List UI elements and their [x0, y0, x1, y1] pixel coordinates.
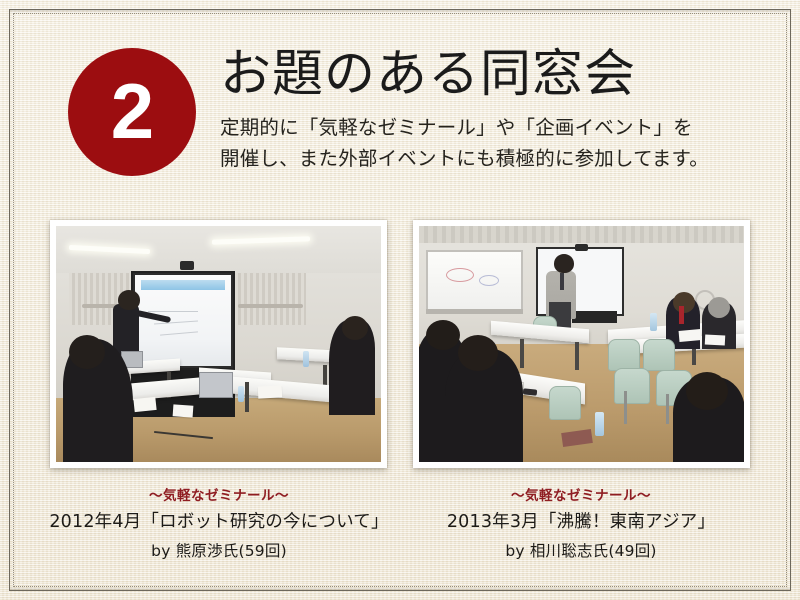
caption-byline: by 相川聡志氏(49回): [406, 539, 756, 563]
page-title: お題のある同窓会: [220, 46, 780, 103]
section-number-label: 2: [111, 72, 153, 150]
page-subtitle: 定期的に「気軽なゼミナール」や「企画イベント」を 開催し、また外部イベントにも積…: [220, 113, 780, 175]
photo-card-lecture: [413, 220, 750, 468]
caption-row: 〜気軽なゼミナール〜 2012年4月「ロボット研究の今について」 by 熊原渉氏…: [0, 486, 800, 576]
caption-title: 2013年3月「沸騰！東南アジア」: [406, 509, 756, 536]
caption-kicker: 〜気軽なゼミナール〜: [406, 486, 756, 506]
header-text-group: お題のある同窓会 定期的に「気軽なゼミナール」や「企画イベント」を 開催し、また…: [220, 46, 780, 175]
whiteboard: [426, 250, 524, 311]
caption-title: 2012年4月「ロボット研究の今について」: [44, 509, 394, 536]
meeting-room-lecture-photo: [419, 226, 744, 462]
photo-row: [0, 220, 800, 480]
seminar-room-presentation-photo: [56, 226, 381, 462]
section-number-badge: 2: [68, 48, 196, 176]
caption-seminar-2013: 〜気軽なゼミナール〜 2013年3月「沸騰！東南アジア」 by 相川聡志氏(49…: [406, 486, 756, 563]
frame-bottom-shade: [10, 587, 790, 590]
slide-header: 2 お題のある同窓会 定期的に「気軽なゼミナール」や「企画イベント」を 開催し、…: [0, 0, 800, 205]
caption-kicker: 〜気軽なゼミナール〜: [44, 486, 394, 506]
page-subtitle-line-1: 定期的に「気軽なゼミナール」や「企画イベント」を: [220, 113, 780, 144]
projection-screen: [131, 271, 235, 370]
caption-seminar-2012: 〜気軽なゼミナール〜 2012年4月「ロボット研究の今について」 by 熊原渉氏…: [44, 486, 394, 563]
slide: 2 お題のある同窓会 定期的に「気軽なゼミナール」や「企画イベント」を 開催し、…: [0, 0, 800, 600]
page-subtitle-line-2: 開催し、また外部イベントにも積極的に参加してます。: [220, 144, 780, 175]
caption-byline: by 熊原渉氏(59回): [44, 539, 394, 563]
photo-card-seminar: [50, 220, 387, 468]
